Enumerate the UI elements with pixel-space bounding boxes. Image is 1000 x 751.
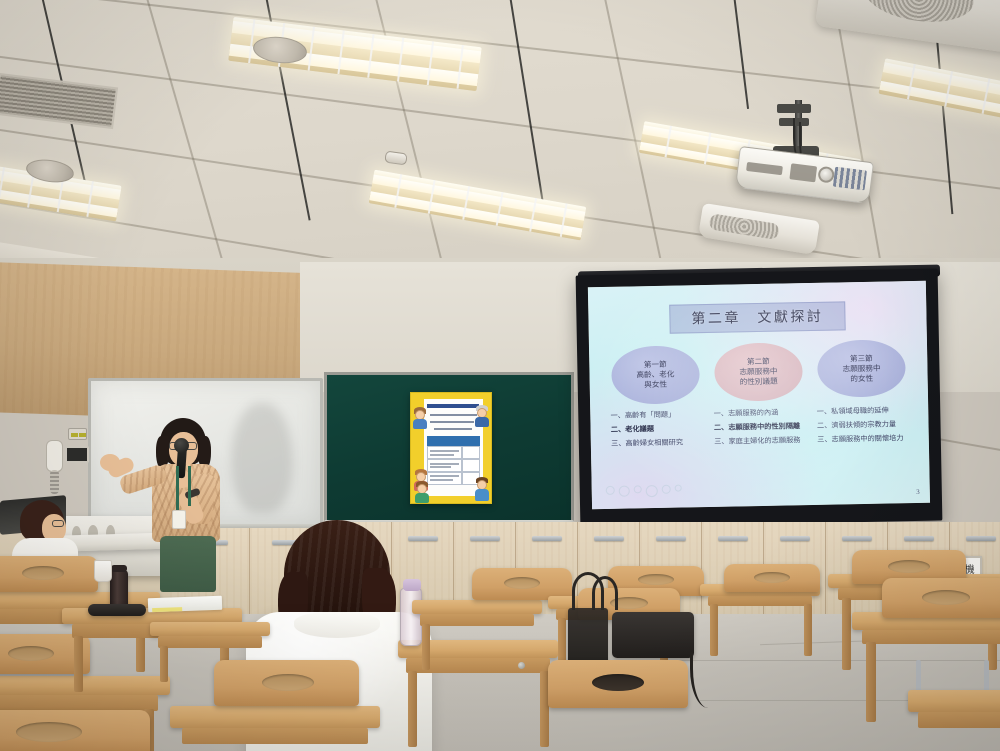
wall-poster — [410, 392, 492, 504]
bullet-line: 三、高齡婦女相關研究 — [611, 436, 683, 451]
papers-on-desk — [148, 596, 222, 613]
slide-title-box: 第二章 文獻探討 — [669, 301, 845, 333]
slide-bullets-section-3: 一、私領域母職的延伸 二、濟弱扶傾的宗教力量 三、志願服務中的關懷培力 — [817, 403, 904, 447]
bubble-line: 第一節 — [644, 360, 667, 370]
phone-handset — [46, 440, 63, 472]
slide-bubble-section-3: 第三節 志願服務中 的女性 — [817, 339, 906, 398]
bullet-line: 二、老化議題 — [611, 422, 683, 437]
projection-screen-frame: 第二章 文獻探討 第一節 高齡、老化 與女性 第二節 志願服務中 的性別議題 第… — [576, 269, 943, 528]
chair — [548, 660, 688, 736]
bubble-line: 志願服務中 — [842, 363, 880, 374]
projection-screen: 第二章 文獻探討 第一節 高齡、老化 與女性 第二節 志願服務中 的性別議題 第… — [588, 281, 930, 509]
poster-cartoon-figure — [415, 481, 431, 503]
backpack — [612, 612, 694, 658]
name-badge — [172, 510, 186, 529]
chair — [882, 578, 1000, 640]
chair — [724, 564, 820, 612]
ceiling-air-vent — [0, 73, 118, 129]
air-conditioner-unit — [698, 203, 820, 255]
glasses-icon — [52, 520, 66, 528]
microphone-head — [174, 438, 189, 453]
smoke-detector-icon — [384, 151, 407, 166]
slide-decoration-circles — [605, 484, 681, 497]
presenter — [110, 418, 240, 588]
chair — [214, 660, 359, 730]
classroom-photo: 第二章 文獻探討 第一節 高齡、老化 與女性 第二節 志願服務中 的性別議題 第… — [0, 0, 1000, 751]
bag-handle — [592, 576, 618, 610]
chair — [0, 710, 150, 751]
phone-cord — [50, 470, 59, 494]
bubble-line: 高齡、老化 — [636, 369, 674, 380]
bubble-line: 的性別議題 — [740, 376, 778, 387]
presenter-trousers — [160, 536, 216, 592]
wall-switch-panel — [68, 428, 87, 440]
bullet-line: 三、志願服務中的關懷培力 — [817, 431, 904, 447]
slide-bubble-section-2: 第二節 志願服務中 的性別議題 — [714, 342, 803, 401]
audience-center-collar — [294, 612, 380, 638]
slide-page-number: 3 — [916, 488, 920, 496]
bubble-line: 第三節 — [850, 353, 873, 363]
bubble-line: 與女性 — [644, 380, 667, 390]
desk — [908, 690, 1000, 751]
presentation-slide: 第二章 文獻探討 第一節 高齡、老化 與女性 第二節 志願服務中 的性別議題 第… — [588, 281, 930, 509]
av-control-panel[interactable] — [65, 446, 89, 463]
bubble-line: 的女性 — [850, 373, 873, 383]
bag-on-desk — [88, 604, 146, 616]
lanyard — [176, 466, 188, 512]
slide-bullets-section-2: 一、志願服務的內涵 二、志願服務中的性別隔離 三、家庭主婦化的志願服務 — [714, 405, 801, 449]
slide-bubble-section-1: 第一節 高齡、老化 與女性 — [611, 345, 700, 404]
poster-cartoon-figure — [475, 477, 491, 501]
poster-cartoon-figure — [413, 407, 429, 429]
ceiling-light-fixture — [369, 170, 587, 241]
presenter-hand-gesture — [100, 454, 120, 471]
lanyard — [188, 466, 196, 506]
bullet-line: 一、高齡有「問題」 — [610, 408, 682, 423]
poster-cartoon-figure — [475, 405, 491, 427]
slide-title: 第二章 文獻探討 — [691, 306, 824, 329]
paper-cup — [94, 560, 112, 582]
bullet-line: 三、家庭主婦化的志願服務 — [714, 433, 801, 449]
ceiling-projector — [735, 146, 874, 204]
slide-bullets-section-1: 一、高齡有「問題」 二、老化議題 三、高齡婦女相關研究 — [610, 408, 683, 451]
bubble-line: 第二節 — [747, 356, 770, 366]
projector-assembly — [735, 100, 905, 210]
tote-bag — [568, 608, 608, 664]
